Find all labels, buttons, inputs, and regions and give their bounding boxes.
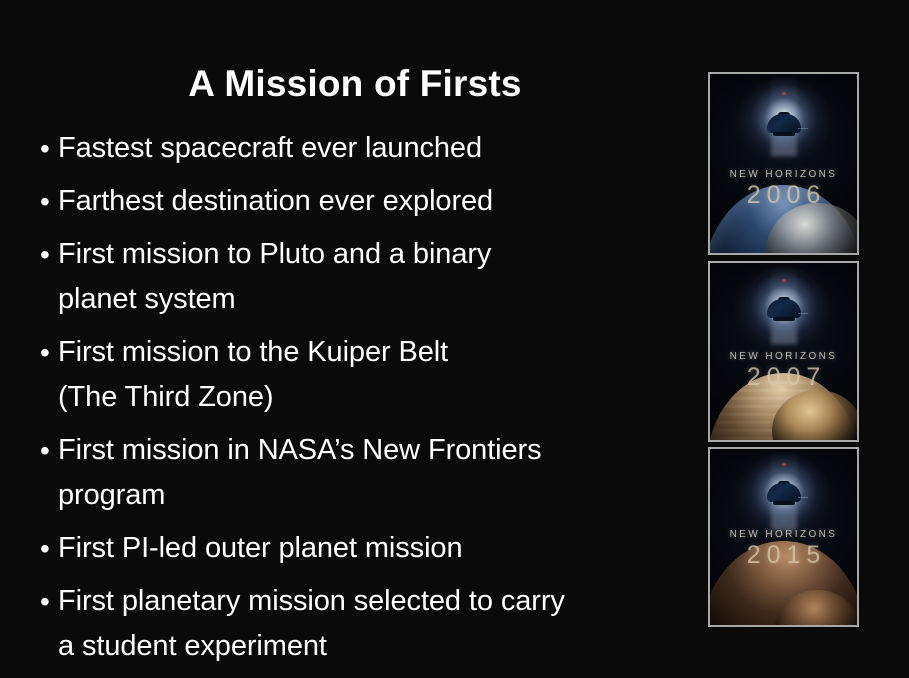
- spacecraft-icon: [767, 297, 801, 321]
- spacecraft-base: [773, 132, 795, 136]
- list-item: • First PI-led outer planet mission: [40, 526, 690, 571]
- spacecraft-dish: [767, 299, 801, 318]
- bullet-icon: •: [40, 232, 58, 277]
- bullet-icon: •: [40, 428, 58, 473]
- spacecraft-boom: [798, 313, 808, 314]
- mission-artwork: NEW HORIZONS 2006: [710, 74, 857, 253]
- spacecraft-boom: [798, 497, 808, 498]
- bullet-list: • Fastest spacecraft ever launched • Far…: [40, 126, 690, 677]
- list-item-line-1: First PI-led outer planet mission: [58, 532, 462, 564]
- list-item: • First mission in NASA’s New Frontiers …: [40, 428, 690, 518]
- red-marker-dot: [782, 92, 786, 95]
- spacecraft-icon: [767, 112, 801, 136]
- list-item-text: First mission to the Kuiper Belt (The Th…: [58, 330, 690, 420]
- list-item-text: Farthest destination ever explored: [58, 179, 690, 224]
- list-item-text: Fastest spacecraft ever launched: [58, 126, 690, 171]
- list-item: • First planetary mission selected to ca…: [40, 579, 690, 669]
- mission-artwork: NEW HORIZONS 2007: [710, 263, 857, 440]
- spacecraft-dish: [767, 483, 801, 502]
- list-item-line-1: Farthest destination ever explored: [58, 185, 493, 217]
- spacecraft-base: [773, 501, 795, 505]
- list-item-text: First PI-led outer planet mission: [58, 526, 690, 571]
- mission-image-2006: NEW HORIZONS 2006: [708, 72, 859, 255]
- list-item-text: First mission in NASA’s New Frontiers pr…: [58, 428, 690, 518]
- list-item: • Fastest spacecraft ever launched: [40, 126, 690, 171]
- list-item-line-1: Fastest spacecraft ever launched: [58, 132, 482, 164]
- list-item-line-2: planet system: [58, 277, 690, 322]
- bullet-icon: •: [40, 179, 58, 224]
- list-item: • First mission to Pluto and a binary pl…: [40, 232, 690, 322]
- bullet-icon: •: [40, 579, 58, 624]
- bullet-icon: •: [40, 330, 58, 375]
- mission-image-2007: NEW HORIZONS 2007: [708, 261, 859, 442]
- spacecraft-icon: [767, 481, 801, 505]
- list-item: • Farthest destination ever explored: [40, 179, 690, 224]
- mission-artwork: NEW HORIZONS 2015: [710, 449, 857, 625]
- list-item: • First mission to the Kuiper Belt (The …: [40, 330, 690, 420]
- spacecraft-dish: [767, 114, 801, 133]
- spacecraft-base: [773, 317, 795, 321]
- list-item-line-1: First planetary mission selected to carr…: [58, 585, 565, 617]
- mission-image-2015: NEW HORIZONS 2015: [708, 447, 859, 627]
- list-item-line-1: First mission to Pluto and a binary: [58, 238, 491, 270]
- bullet-icon: •: [40, 126, 58, 171]
- bullet-icon: •: [40, 526, 58, 571]
- red-marker-dot: [782, 279, 786, 282]
- presentation-slide: A Mission of Firsts • Fastest spacecraft…: [0, 0, 909, 678]
- list-item-text: First planetary mission selected to carr…: [58, 579, 690, 669]
- page-title: A Mission of Firsts: [20, 62, 690, 106]
- list-item-line-1: First mission in NASA’s New Frontiers: [58, 434, 542, 466]
- spacecraft-boom: [798, 128, 808, 129]
- list-item-line-2: program: [58, 473, 690, 518]
- red-marker-dot: [782, 463, 786, 466]
- list-item-line-2: (The Third Zone): [58, 375, 690, 420]
- list-item-text: First mission to Pluto and a binary plan…: [58, 232, 690, 322]
- list-item-line-2: a student experiment: [58, 624, 690, 669]
- list-item-line-1: First mission to the Kuiper Belt: [58, 336, 448, 368]
